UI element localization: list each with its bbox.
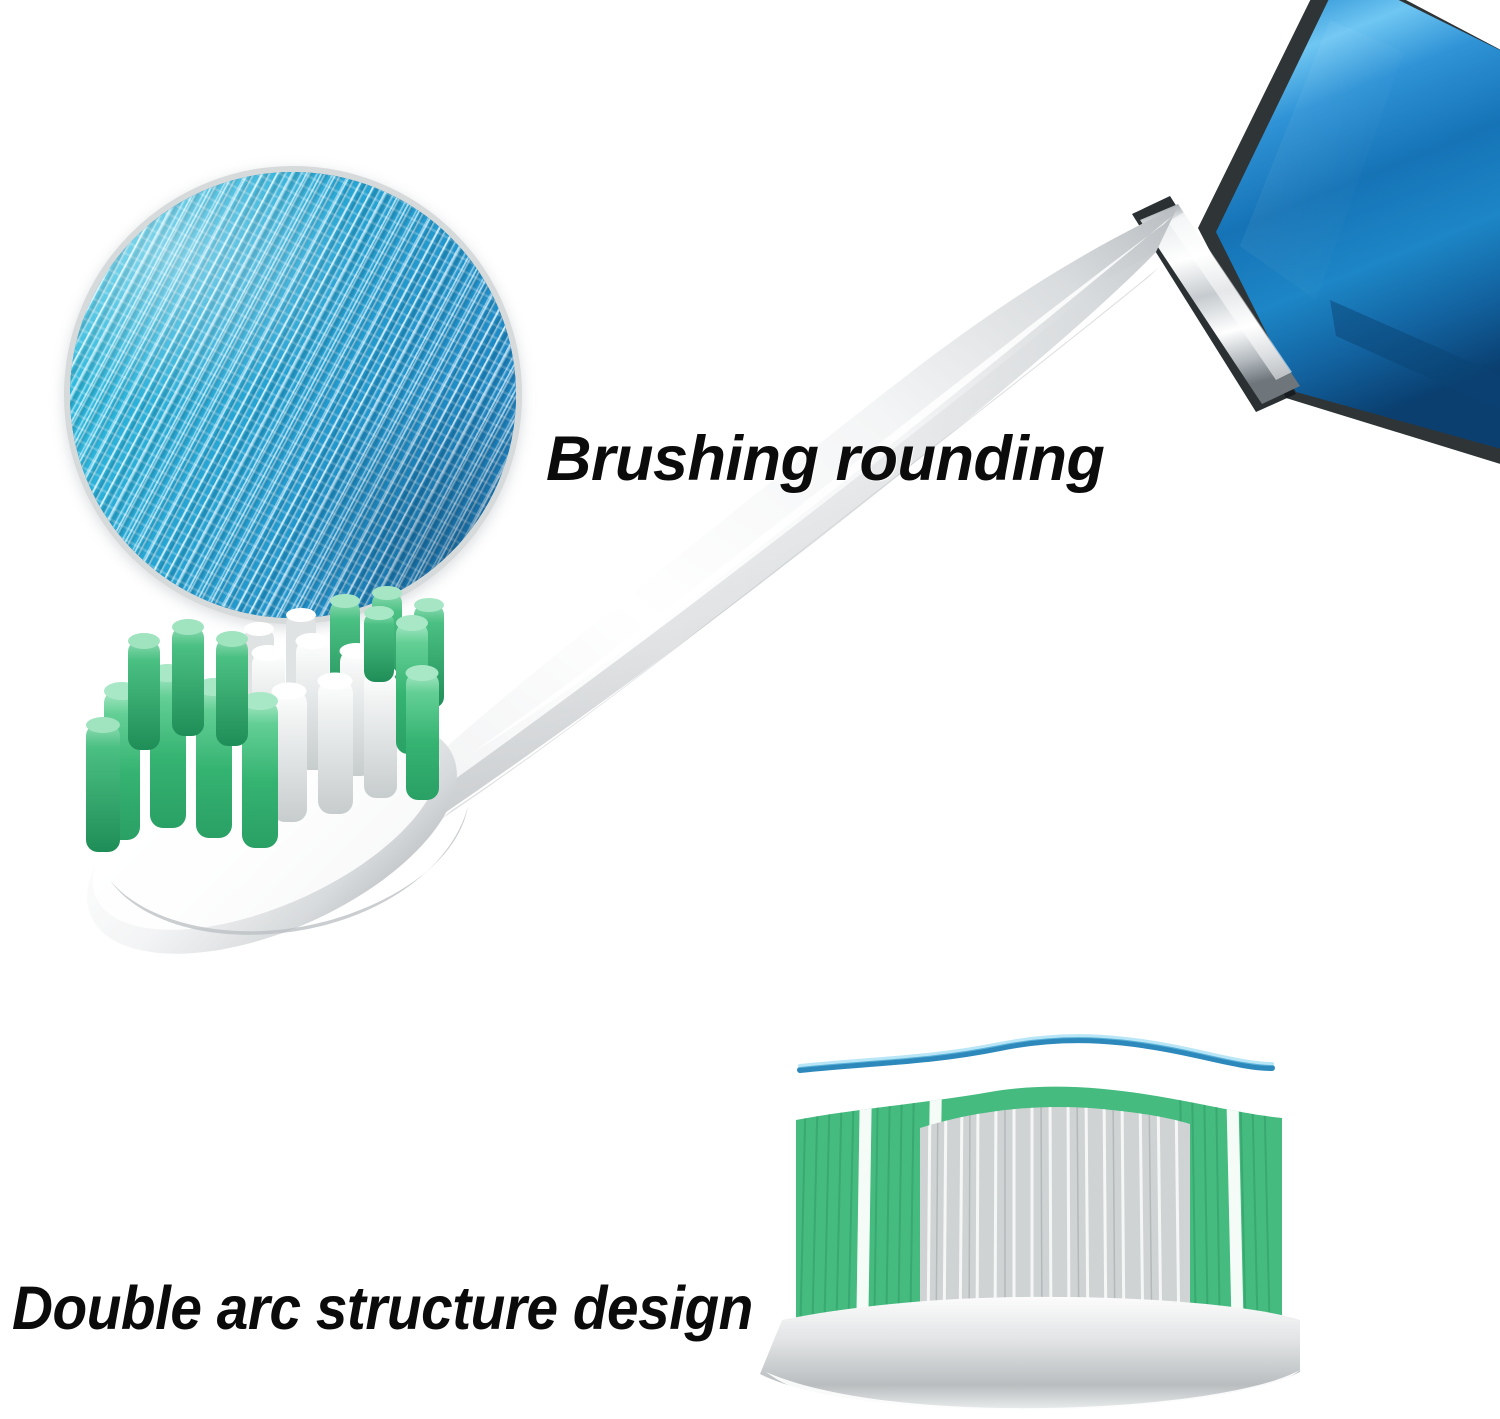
tuft	[364, 665, 398, 798]
double-arc-cross-section	[760, 1036, 1300, 1416]
bristle-closeup-circle	[64, 166, 522, 624]
product-infographic-canvas: Brushing rounding Double arc structure d…	[0, 0, 1500, 1419]
tuft	[104, 682, 140, 840]
tuft	[296, 633, 330, 770]
tuft	[242, 692, 278, 848]
head-oval-top	[62, 670, 470, 975]
tuft-column-right-green	[364, 606, 439, 800]
tuft	[406, 665, 440, 800]
tuft	[244, 622, 274, 730]
tuft	[252, 645, 286, 776]
label-brushing-rounding: Brushing rounding	[546, 428, 1104, 491]
tuft	[86, 717, 120, 852]
tuft	[396, 615, 428, 754]
handle-seam-line	[1330, 300, 1500, 410]
neck-crease	[440, 268, 1158, 820]
handle-body	[1216, 0, 1500, 452]
chrome-specular	[1168, 212, 1292, 380]
arc-contour-line	[800, 1040, 1272, 1070]
bristle-tuft-field	[86, 586, 444, 852]
tuft	[196, 678, 232, 838]
toothbrush-handle	[1198, 0, 1500, 470]
handle-dark-outline	[1198, 0, 1500, 470]
cross-section-head-base	[760, 1297, 1300, 1410]
head-oval	[53, 670, 491, 1003]
head-edge-shadow	[110, 806, 468, 935]
cross-section-base-highlight	[766, 1370, 1300, 1416]
handle-chrome-collar	[1132, 196, 1300, 412]
tuft-row-front-green	[86, 619, 278, 852]
chrome-ring	[1140, 204, 1300, 404]
tuft	[150, 664, 186, 828]
tuft	[318, 673, 354, 815]
tuft-row-middle-white	[252, 633, 398, 822]
label-double-arc-structure-design: Double arc structure design	[12, 1278, 753, 1339]
cross-section-inner-bristles	[920, 1090, 1190, 1344]
chrome-outline	[1132, 196, 1296, 412]
handle-highlight	[1240, 20, 1404, 300]
tuft	[216, 631, 248, 746]
arc-contour-glow	[800, 1036, 1272, 1066]
tuft	[286, 608, 316, 718]
toothbrush-head-base	[53, 670, 491, 1003]
cross-section-outer-bristles	[796, 1080, 1282, 1344]
tuft	[272, 683, 308, 823]
tuft	[172, 619, 204, 736]
tuft	[340, 643, 374, 776]
magnifier-gloss-overlay	[70, 172, 516, 618]
tuft	[128, 633, 160, 750]
